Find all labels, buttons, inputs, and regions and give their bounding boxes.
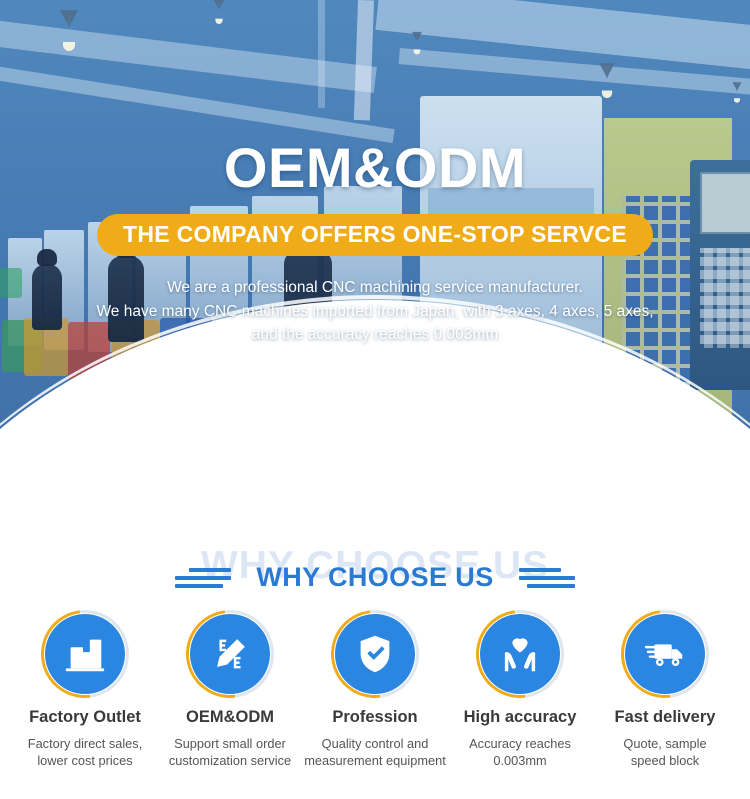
why-choose-us-section: WHY CHOOSE US WHY CHOOSE US [0,512,750,770]
feature-title: OEM&ODM [159,708,301,728]
hero-banner-row: THE COMPANY OFFERS ONE-STOP SERVCE [0,214,750,256]
hero-description: We are a professional CNC machining serv… [0,276,750,347]
hero-description-line-3: and the accuracy reaches 0.003mm [0,323,750,347]
feature-description: Accuracy reaches 0.003mm [449,735,591,770]
pencil-design-icon [190,614,270,694]
feature-icon-wrapper [335,614,415,694]
feature-desc-line-1: Quality control and [322,736,429,751]
feature-card-high-accuracy[interactable]: High accuracy Accuracy reaches 0.003mm [449,614,591,770]
feature-desc-line-1: Support small order [174,736,286,751]
feature-desc-line-1: Quote, sample [623,736,706,751]
feature-title: Profession [304,708,446,728]
feature-description: Support small order customization servic… [159,735,301,770]
feature-icon-wrapper [45,614,125,694]
feature-desc-line-1: Accuracy reaches [469,736,571,751]
feature-description: Quote, sample speed block [594,735,736,770]
feature-title: Factory Outlet [14,708,156,728]
section-header: WHY CHOOSE US WHY CHOOSE US [0,512,750,590]
feature-icon-wrapper [625,614,705,694]
feature-card-profession[interactable]: Profession Quality control and measureme… [304,614,446,770]
feature-title: Fast delivery [594,708,736,728]
buildings-icon [45,614,125,694]
feature-card-oem-odm[interactable]: OEM&ODM Support small order customizatio… [159,614,301,770]
feature-description: Quality control and measurement equipmen… [304,735,446,770]
page-title: OEM&ODM [0,140,750,196]
hands-heart-icon [480,614,560,694]
delivery-truck-icon [625,614,705,694]
feature-card-fast-delivery[interactable]: Fast delivery Quote, sample speed block [594,614,736,770]
hero-text-block: OEM&ODM THE COMPANY OFFERS ONE-STOP SERV… [0,0,750,347]
feature-desc-line-2: 0.003mm [493,753,546,768]
hero-description-line-1: We are a professional CNC machining serv… [0,276,750,300]
section-title: WHY CHOOSE US [256,564,493,591]
feature-desc-line-2: measurement equipment [304,753,446,768]
decorative-lines-left-icon [175,568,231,588]
feature-desc-line-2: customization service [169,753,291,768]
feature-desc-line-2: speed block [631,753,699,768]
feature-description: Factory direct sales, lower cost prices [14,735,156,770]
section-title-row: WHY CHOOSE US [0,564,750,591]
feature-desc-line-1: Factory direct sales, [28,736,143,751]
shield-check-icon [335,614,415,694]
feature-title: High accuracy [449,708,591,728]
feature-list: Factory Outlet Factory direct sales, low… [0,590,750,770]
feature-icon-wrapper [190,614,270,694]
feature-icon-wrapper [480,614,560,694]
hero-tagline-banner: THE COMPANY OFFERS ONE-STOP SERVCE [97,214,653,256]
decorative-lines-right-icon [519,568,575,588]
feature-card-factory-outlet[interactable]: Factory Outlet Factory direct sales, low… [14,614,156,770]
hero-description-line-2: We have many CNC machines imported from … [0,300,750,324]
feature-desc-line-2: lower cost prices [37,753,132,768]
